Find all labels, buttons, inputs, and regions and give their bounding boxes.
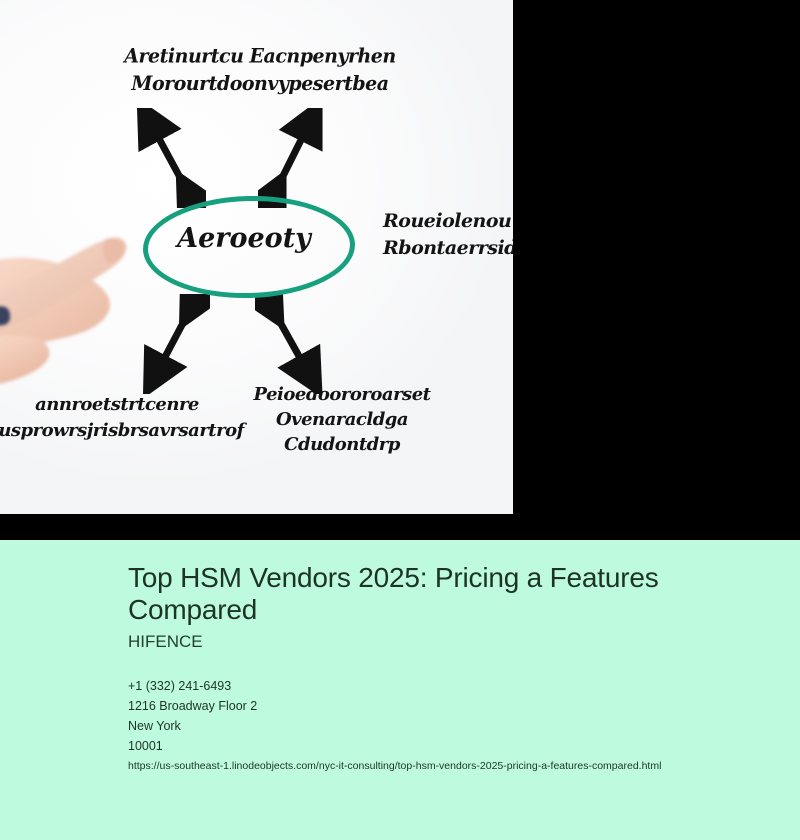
arrow-top-left-icon	[136, 108, 206, 208]
contact-street: 1216 Broadway Floor 2	[128, 696, 768, 716]
source-url[interactable]: https://us-southeast-1.linodeobjects.com…	[128, 759, 661, 773]
handwritten-label-bottom-right-line3: Cdudontdrp	[232, 432, 452, 457]
contact-city: New York	[128, 716, 768, 736]
arrow-top-right-icon	[258, 108, 328, 208]
handwritten-label-bottom-right-line2: Ovenaracldga	[232, 407, 452, 432]
handwritten-label-bottom-left: annroetstrtcenre lusprowrsjrisbrsavrsart…	[0, 392, 242, 444]
brand-name: HIFENCE	[128, 632, 203, 652]
document-info-panel: Top HSM Vendors 2025: Pricing a Features…	[0, 540, 800, 840]
circled-concept-label: Aeroeoty	[143, 222, 345, 256]
handwritten-label-bottom-left-line2: lusprowrsjrisbrsavrsartrof	[0, 418, 242, 444]
handwritten-label-top-line2: Morourtdoonvypesertbea	[110, 70, 410, 97]
hero-image: Aretinurtcu Eacnpenyrhen Morourtdoonvype…	[0, 0, 513, 514]
handwritten-label-bottom-left-line1: annroetstrtcenre	[0, 392, 242, 418]
handwritten-label-top-line1: Aretinurtcu Eacnpenyrhen	[110, 43, 410, 70]
arrow-bottom-right-icon	[255, 294, 325, 394]
contact-block: +1 (332) 241-6493 1216 Broadway Floor 2 …	[128, 676, 768, 756]
contact-phone: +1 (332) 241-6493	[128, 676, 768, 696]
page-title: Top HSM Vendors 2025: Pricing a Features…	[128, 562, 768, 626]
contact-postal-code: 10001	[128, 736, 768, 756]
handwritten-label-right-line2: Rbontaerrsidivoj	[383, 235, 513, 262]
handwritten-label-top: Aretinurtcu Eacnpenyrhen Morourtdoonvype…	[110, 43, 410, 98]
arrow-bottom-left-icon	[140, 294, 210, 394]
handwritten-label-right: Roueiolenou Rbontaerrsidivoj	[383, 208, 513, 262]
handwritten-label-right-line1: Roueiolenou	[383, 208, 513, 235]
